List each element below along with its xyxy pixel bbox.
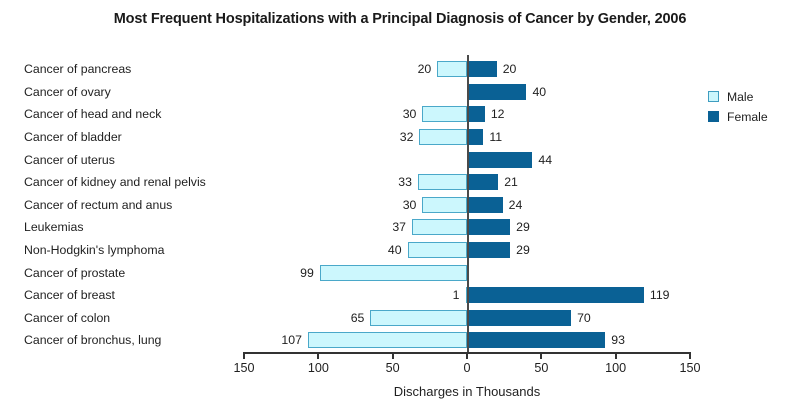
x-tick-mark	[615, 352, 617, 359]
bar-male[interactable]	[308, 332, 467, 348]
bar-female[interactable]	[467, 61, 497, 77]
plot-area: Cancer of pancreas2020Cancer of ovary40C…	[244, 58, 690, 352]
category-label: Leukemias	[24, 220, 234, 234]
bar-value-female: 93	[611, 333, 625, 347]
category-label: Cancer of pancreas	[24, 62, 234, 76]
legend-label-male: Male	[727, 90, 753, 104]
bar-female[interactable]	[467, 84, 526, 100]
category-label: Cancer of uterus	[24, 153, 234, 167]
bar-male[interactable]	[418, 174, 467, 190]
bar-female[interactable]	[467, 129, 483, 145]
bar-male[interactable]	[412, 219, 467, 235]
bar-female[interactable]	[467, 332, 605, 348]
bar-female[interactable]	[467, 287, 644, 303]
category-label: Cancer of head and neck	[24, 107, 234, 121]
bar-male[interactable]	[408, 242, 467, 258]
bar-value-female: 12	[491, 107, 505, 121]
category-label: Cancer of bladder	[24, 130, 234, 144]
bar-value-male: 107	[281, 333, 302, 347]
bar-value-female: 29	[516, 243, 530, 257]
category-label: Cancer of prostate	[24, 266, 234, 280]
x-tick-mark	[540, 352, 542, 359]
x-tick-mark	[466, 352, 468, 359]
bar-female[interactable]	[467, 242, 510, 258]
legend-swatch-female-icon	[708, 111, 719, 122]
chart-title: Most Frequent Hospitalizations with a Pr…	[0, 11, 800, 27]
chart-legend: Male Female	[708, 88, 768, 128]
category-label: Cancer of breast	[24, 288, 234, 302]
bar-female[interactable]	[467, 219, 510, 235]
bar-female[interactable]	[467, 106, 485, 122]
legend-item-male[interactable]: Male	[708, 88, 768, 105]
bar-value-female: 11	[489, 130, 502, 144]
category-label: Cancer of kidney and renal pelvis	[24, 175, 234, 189]
x-tick-label: 100	[288, 361, 348, 375]
bar-value-male: 33	[398, 175, 412, 189]
bar-male[interactable]	[320, 265, 467, 281]
bar-value-male: 1	[453, 288, 460, 302]
bar-female[interactable]	[467, 310, 571, 326]
bar-value-female: 119	[650, 288, 670, 302]
bar-value-male: 37	[392, 220, 406, 234]
legend-item-female[interactable]: Female	[708, 108, 768, 125]
bar-value-female: 70	[577, 311, 591, 325]
bar-value-female: 44	[538, 153, 552, 167]
zero-axis-line	[467, 55, 469, 352]
bar-male[interactable]	[419, 129, 467, 145]
legend-label-female: Female	[727, 110, 768, 124]
bar-male[interactable]	[370, 310, 467, 326]
bar-female[interactable]	[467, 174, 498, 190]
bar-male[interactable]	[422, 197, 467, 213]
bar-value-male: 32	[400, 130, 414, 144]
bar-value-male: 30	[403, 198, 417, 212]
bar-female[interactable]	[467, 197, 503, 213]
x-tick-label: 150	[214, 361, 274, 375]
category-label: Non-Hodgkin's lymphoma	[24, 243, 234, 257]
bar-value-female: 20	[503, 62, 517, 76]
legend-swatch-male-icon	[708, 91, 719, 102]
bar-value-female: 40	[532, 85, 546, 99]
bar-female[interactable]	[467, 152, 532, 168]
category-label: Cancer of rectum and anus	[24, 198, 234, 212]
x-tick-label: 100	[586, 361, 646, 375]
x-tick-mark	[317, 352, 319, 359]
bar-value-female: 24	[509, 198, 523, 212]
category-label: Cancer of colon	[24, 311, 234, 325]
bar-value-female: 21	[504, 175, 518, 189]
x-tick-mark	[689, 352, 691, 359]
bar-value-male: 65	[351, 311, 365, 325]
bar-value-male: 99	[300, 266, 314, 280]
x-axis-title: Discharges in Thousands	[244, 384, 690, 399]
bar-male[interactable]	[422, 106, 467, 122]
x-tick-label: 50	[363, 361, 423, 375]
x-tick-label: 150	[660, 361, 720, 375]
category-label: Cancer of ovary	[24, 85, 234, 99]
x-tick-label: 0	[437, 361, 497, 375]
x-tick-label: 50	[511, 361, 571, 375]
bar-value-male: 20	[418, 62, 432, 76]
bar-male[interactable]	[437, 61, 467, 77]
chart-figure: Most Frequent Hospitalizations with a Pr…	[0, 0, 800, 420]
bar-value-male: 30	[403, 107, 417, 121]
x-tick-mark	[392, 352, 394, 359]
category-label: Cancer of bronchus, lung	[24, 333, 234, 347]
bar-value-female: 29	[516, 220, 530, 234]
x-tick-mark	[243, 352, 245, 359]
bar-value-male: 40	[388, 243, 402, 257]
